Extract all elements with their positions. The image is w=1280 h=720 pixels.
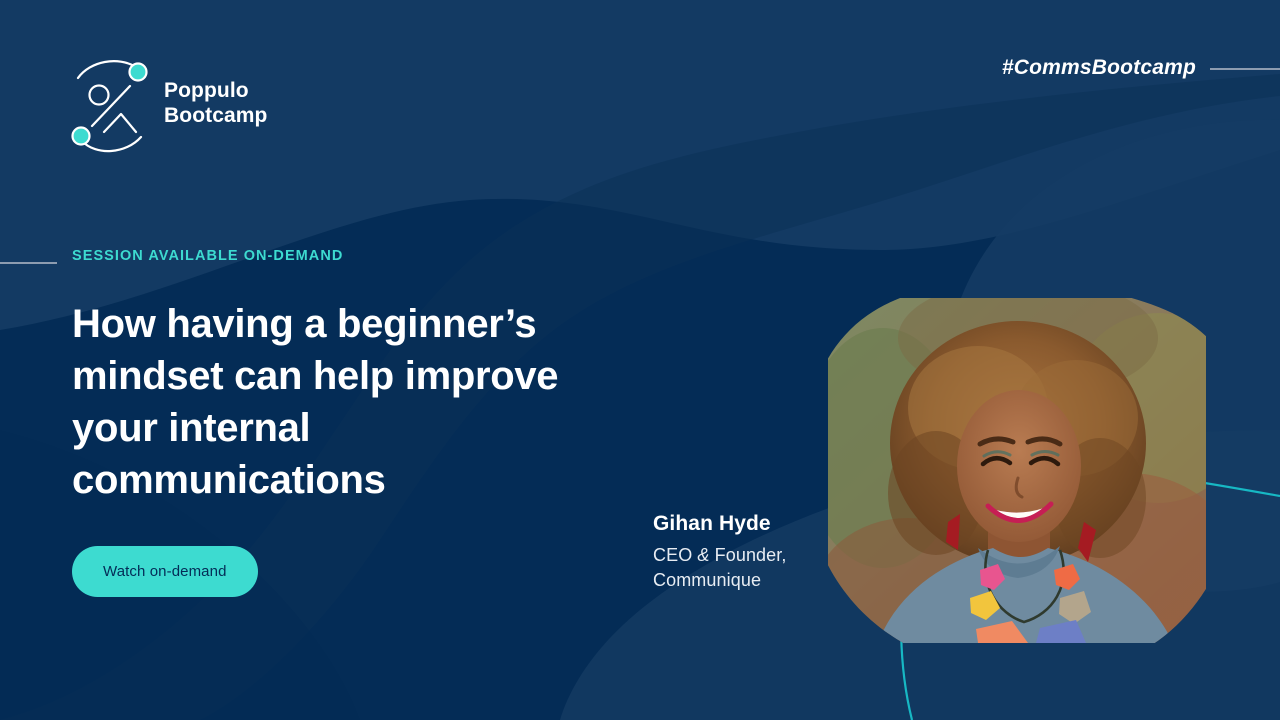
event-hashtag: #CommsBootcamp — [1002, 56, 1280, 80]
session-status-label: SESSION AVAILABLE ON-DEMAND — [72, 248, 632, 264]
speaker-company: Communique — [653, 570, 761, 590]
speaker-portrait — [828, 298, 1206, 643]
promo-slide: Poppulo Bootcamp #CommsBootcamp SESSION … — [0, 0, 1280, 720]
hashtag-divider-rule — [1210, 68, 1280, 70]
event-hashtag-label: #CommsBootcamp — [1002, 56, 1196, 80]
brand-logo[interactable]: Poppulo Bootcamp — [64, 48, 267, 160]
watch-on-demand-button[interactable]: Watch on-demand — [72, 546, 258, 597]
speaker-role-suffix: Founder, — [710, 545, 787, 565]
main-content: SESSION AVAILABLE ON-DEMAND How having a… — [72, 248, 632, 597]
page-title: How having a beginner’s mindset can help… — [72, 298, 592, 506]
speaker-info: Gihan Hyde CEO & Founder,Communique — [653, 512, 883, 593]
speaker-role-prefix: CEO — [653, 545, 697, 565]
speaker-role: CEO & Founder,Communique — [653, 543, 883, 593]
speaker-name: Gihan Hyde — [653, 512, 883, 536]
poppulo-percent-mark-icon — [64, 48, 156, 160]
speaker-portrait-image — [828, 298, 1206, 643]
brand-wordmark: Poppulo Bootcamp — [164, 79, 267, 129]
ampersand-glyph: & — [697, 545, 709, 565]
eyebrow-divider-rule — [0, 262, 57, 264]
